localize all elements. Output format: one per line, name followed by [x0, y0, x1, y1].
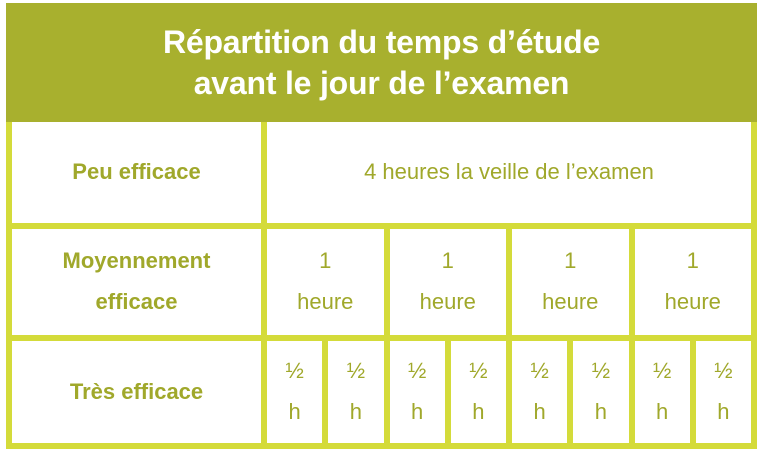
- cell-demi-heure: ½ h: [267, 341, 322, 443]
- cell-bottom-text: h: [350, 392, 362, 433]
- table-row: Très efficace ½ h ½ h ½ h ½ h: [12, 335, 751, 443]
- cell-bottom-text: h: [595, 392, 607, 433]
- row-3-cells: ½ h ½ h ½ h ½ h ½ h: [261, 341, 751, 443]
- row-label-text: Peu efficace: [72, 152, 200, 193]
- cell-top-text: ½: [285, 351, 303, 392]
- cell-top-text: ½: [592, 351, 610, 392]
- cell-demi-heure: ½ h: [506, 341, 567, 443]
- cell-bottom-text: h: [656, 392, 668, 433]
- cell-top-text: ½: [347, 351, 365, 392]
- cell-bottom-text: heure: [542, 282, 598, 323]
- cell-demi-heure: ½ h: [690, 341, 751, 443]
- study-time-infographic: Répartition du temps d’étude avant le jo…: [0, 0, 768, 454]
- table-row: Peu efficace 4 heures la veille de l’exa…: [12, 122, 751, 223]
- row-1-cells: 4 heures la veille de l’examen: [261, 122, 751, 223]
- cell-4-heures-veille: 4 heures la veille de l’examen: [267, 122, 751, 223]
- row-label-tres-efficace: Très efficace: [12, 341, 261, 443]
- cell-demi-heure: ½ h: [384, 341, 445, 443]
- title-line-1: Répartition du temps d’étude: [163, 22, 600, 63]
- cell-bottom-text: h: [289, 392, 301, 433]
- row-2-cells: 1 heure 1 heure 1 heure 1 heure: [261, 229, 751, 335]
- cell-bottom-text: heure: [420, 282, 476, 323]
- cell-1-heure: 1 heure: [384, 229, 507, 335]
- cell-demi-heure: ½ h: [445, 341, 506, 443]
- row-label-peu-efficace: Peu efficace: [12, 122, 261, 223]
- cell-top-text: ½: [408, 351, 426, 392]
- cell-bottom-text: h: [411, 392, 423, 433]
- cell-top-text: 4 heures la veille de l’examen: [364, 152, 654, 193]
- row-label-moyennement-efficace: Moyennement efficace: [12, 229, 261, 335]
- cell-top-text: 1: [687, 241, 699, 282]
- row-label-text-line-1: Moyennement: [63, 241, 211, 282]
- cell-demi-heure: ½ h: [629, 341, 690, 443]
- infographic-header-banner: Répartition du temps d’étude avant le jo…: [6, 3, 757, 122]
- cell-1-heure: 1 heure: [506, 229, 629, 335]
- cell-bottom-text: h: [472, 392, 484, 433]
- cell-top-text: ½: [469, 351, 487, 392]
- row-label-text: Très efficace: [70, 372, 203, 413]
- cell-top-text: 1: [564, 241, 576, 282]
- cell-1-heure: 1 heure: [629, 229, 752, 335]
- cell-1-heure: 1 heure: [267, 229, 384, 335]
- cell-bottom-text: h: [717, 392, 729, 433]
- cell-demi-heure: ½ h: [322, 341, 383, 443]
- cell-bottom-text: heure: [665, 282, 721, 323]
- cell-top-text: 1: [319, 241, 331, 282]
- title-line-2: avant le jour de l’examen: [194, 63, 570, 104]
- cell-top-text: ½: [653, 351, 671, 392]
- row-label-text-line-2: efficace: [96, 282, 178, 323]
- study-time-table: Peu efficace 4 heures la veille de l’exa…: [6, 122, 757, 449]
- table-row: Moyennement efficace 1 heure 1 heure 1 h…: [12, 223, 751, 335]
- cell-bottom-text: heure: [297, 282, 353, 323]
- cell-bottom-text: h: [534, 392, 546, 433]
- cell-top-text: 1: [442, 241, 454, 282]
- cell-demi-heure: ½ h: [567, 341, 628, 443]
- cell-top-text: ½: [714, 351, 732, 392]
- cell-top-text: ½: [530, 351, 548, 392]
